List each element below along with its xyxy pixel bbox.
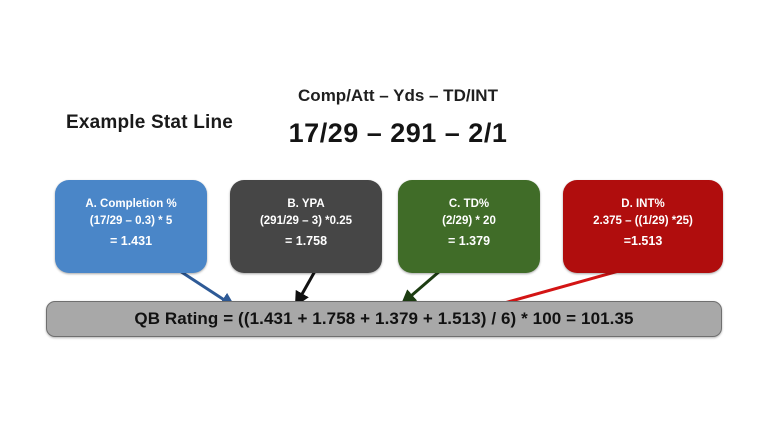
- component-result-td: = 1.379: [448, 231, 490, 251]
- example-stat-line-label: Example Stat Line: [66, 112, 233, 134]
- component-box-int[interactable]: D. INT% 2.375 – ((1/29) *25) =1.513: [563, 180, 723, 273]
- component-result-ypa: = 1.758: [285, 231, 327, 251]
- component-title-completion: A. Completion %: [85, 196, 176, 213]
- component-title-td: C. TD%: [449, 196, 489, 213]
- component-title-ypa: B. YPA: [287, 196, 324, 213]
- qb-rating-formula-text: QB Rating = ((1.431 + 1.758 + 1.379 + 1.…: [134, 309, 633, 329]
- stat-line-value: 17/29 – 291 – 2/1: [258, 118, 538, 149]
- component-box-completion[interactable]: A. Completion % (17/29 – 0.3) * 5 = 1.43…: [55, 180, 207, 273]
- slide-canvas: Example Stat Line Comp/Att – Yds – TD/IN…: [0, 0, 768, 432]
- qb-rating-result-bar: QB Rating = ((1.431 + 1.758 + 1.379 + 1.…: [46, 301, 722, 337]
- component-formula-td: (2/29) * 20: [442, 213, 496, 231]
- component-title-int: D. INT%: [621, 196, 664, 213]
- component-formula-int: 2.375 – ((1/29) *25): [593, 213, 693, 231]
- component-box-ypa[interactable]: B. YPA (291/29 – 3) *0.25 = 1.758: [230, 180, 382, 273]
- component-box-td[interactable]: C. TD% (2/29) * 20 = 1.379: [398, 180, 540, 273]
- component-result-completion: = 1.431: [110, 231, 152, 251]
- component-result-int: =1.513: [624, 231, 663, 251]
- component-formula-completion: (17/29 – 0.3) * 5: [90, 213, 172, 231]
- component-formula-ypa: (291/29 – 3) *0.25: [260, 213, 352, 231]
- stat-line-header: Comp/Att – Yds – TD/INT: [258, 86, 538, 106]
